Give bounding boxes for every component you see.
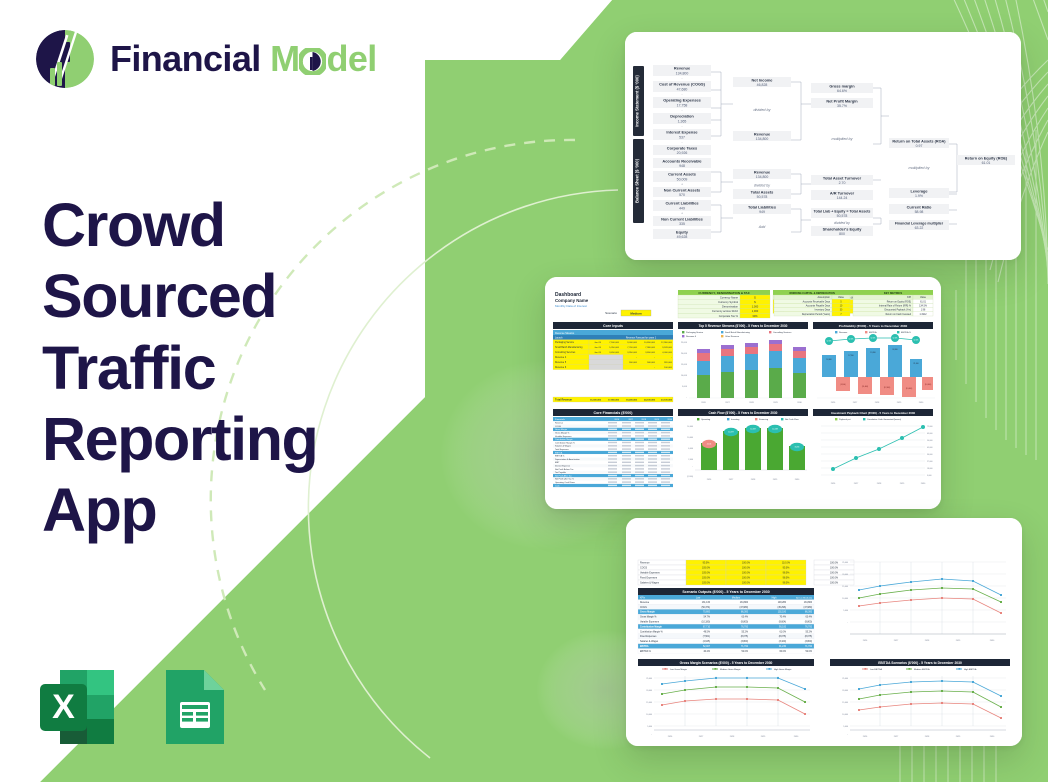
table-cell: Fixed Expenses <box>640 636 657 638</box>
table-cell <box>648 468 657 469</box>
node-value: 570 <box>679 193 685 197</box>
svg-text:+: + <box>681 183 683 187</box>
table-cell: Currency Symbol <box>718 300 738 304</box>
table-cell <box>635 429 644 430</box>
table-cell <box>622 462 631 463</box>
svg-text:10,000: 10,000 <box>842 714 848 716</box>
scenario-dashboard-mock: Revenue 95.0% 100.0% 110.0% 100.0% COGS … <box>626 518 1022 746</box>
table-cell <box>622 448 631 449</box>
table-cell <box>635 485 644 486</box>
panel-header: Cash Flow ($'000) - 5 Years to December … <box>709 411 778 415</box>
svg-text:24,100: 24,100 <box>892 349 897 351</box>
table-cell <box>622 478 631 479</box>
screenshot-dupont-analysis[interactable]: Income Statement ($ '000) Balance Sheet … <box>625 32 1021 260</box>
hero-left-panel: Financial M del Crowd Sourced Traffic Re… <box>0 0 470 782</box>
node-value: 1.9% <box>915 194 923 198</box>
node: A/R Turnover 144.24 <box>811 190 873 200</box>
table-cell <box>648 442 657 443</box>
svg-text:25,000: 25,000 <box>681 342 688 344</box>
node-value: 2.70 <box>839 181 846 185</box>
table-cell: 1,000 <box>752 305 759 309</box>
table-cell <box>635 439 644 440</box>
col-header: Value <box>920 296 927 299</box>
operator-label: divided by <box>834 221 850 225</box>
col-header: Value <box>838 296 845 299</box>
table-cell <box>622 439 631 440</box>
table-cell: Consulting Services <box>555 351 576 354</box>
table-cell <box>635 478 644 479</box>
excel-letter: X <box>52 688 75 726</box>
node-value: 1,365 <box>678 119 687 123</box>
table-cell: (3,800) <box>741 641 749 643</box>
table-cell <box>661 425 670 426</box>
legend-label: Low EBITDA <box>870 668 883 671</box>
node-value: 35.7% <box>837 104 847 108</box>
table-cell <box>648 475 657 476</box>
node-label: Net Profit Margin <box>826 98 858 103</box>
table-cell: 105.0% <box>702 567 711 570</box>
table-cell <box>661 481 670 482</box>
table-cell <box>648 422 657 423</box>
node: Net Profit Margin 35.7% <box>811 98 873 108</box>
node-label: Shareholder's Equity <box>823 226 863 231</box>
table-cell: Tax Payable <box>555 472 567 474</box>
svg-text:5,000: 5,000 <box>682 386 688 388</box>
table-cell <box>661 429 670 430</box>
table-cell <box>635 452 644 453</box>
table-cell: Revenue <box>555 423 564 425</box>
panel-header: Profitability ($'000) - 5 Years to Decem… <box>839 324 908 328</box>
table-cell <box>661 422 670 423</box>
table-row: Fixed Expenses(7,501)(8,075)(8,075)(8,07… <box>638 634 814 639</box>
table-cell: 100.0% <box>742 567 751 570</box>
table-cell <box>608 422 617 423</box>
col-header: Assumption <box>818 296 831 299</box>
table-cell: 100.0% <box>830 562 839 565</box>
bar-group <box>721 345 734 398</box>
brand-name-model-del: del <box>326 38 376 79</box>
table-cell: (3,100) <box>779 641 787 643</box>
table-cell <box>661 448 670 449</box>
table-cell <box>648 429 657 430</box>
svg-text:(12,300): (12,300) <box>884 387 891 389</box>
table-cell <box>635 442 644 443</box>
svg-text:27,000: 27,000 <box>927 461 933 463</box>
node-value: 63.22 <box>915 226 924 230</box>
table-cell <box>661 452 670 453</box>
operator-label: multiplied by <box>831 137 853 141</box>
table-row: Contribution Margin %48.5%55.2%61.0%55.2… <box>638 629 814 634</box>
svg-text:10,000: 10,000 <box>687 437 693 439</box>
table-cell: 105.0% <box>702 582 711 585</box>
table-cell <box>661 432 670 433</box>
table-cell: 40.2% <box>703 651 710 653</box>
table-cell: COGS <box>555 426 562 428</box>
table-total: 24,100,000 <box>644 399 656 402</box>
dashboard-subnote: Monthly Data of Interest <box>555 304 587 308</box>
node-value: 144.24 <box>837 196 848 200</box>
group-label-balance-sheet: Balance Sheet ($ '000) <box>635 158 640 203</box>
table-cell <box>635 435 644 436</box>
table-cell: 110.0% <box>782 562 791 565</box>
legend-label: High Gross Margin <box>774 668 792 671</box>
table-cell: EBIT <box>555 462 560 464</box>
node-label: Equity <box>676 229 689 234</box>
svg-text:-: - <box>681 77 682 81</box>
table-cell: (9,800) <box>805 622 813 624</box>
table-cell: 98.0% <box>783 582 791 585</box>
table-cell: Small Batch Manufacturing <box>555 346 583 349</box>
panel-header: Investment Payback Chart ($'000) - 5 Yea… <box>831 411 916 415</box>
legend-label: Net Cash Flow <box>785 418 799 421</box>
table-cell: 90,100 <box>779 626 787 628</box>
table-row: EBITDA <box>553 451 673 454</box>
table-cell: 7,980,000 <box>645 347 656 349</box>
table-cell: Depreciation & Amortisation <box>555 458 580 461</box>
data-label: 8,233 <box>795 447 800 449</box>
table-cell: Total Expenses <box>555 448 569 451</box>
table-cell <box>608 442 617 443</box>
table-cell: 54.7% <box>703 617 710 619</box>
table-cell: 1,000 <box>752 309 759 313</box>
table-cell: 3,450,000 <box>609 352 620 354</box>
table-cell: Salaries & Wages <box>640 640 659 643</box>
table-row: Tax Payable <box>553 471 673 474</box>
node-label: Total Liabilities <box>748 204 776 209</box>
table-cell: 76,700 <box>805 626 813 628</box>
table-cell: 67,710 <box>703 626 711 628</box>
table-cell <box>635 445 644 446</box>
table-cell: 900,000 <box>629 362 638 364</box>
table-cell: Interest Expense <box>555 465 571 468</box>
table-cell: 55.2% <box>805 631 812 633</box>
legend-label: High EBITDA <box>964 668 977 671</box>
operator-label: multiplied by <box>908 166 930 170</box>
data-label: 12,337 <box>750 429 756 431</box>
table-cell: Accounts Payable Days <box>806 305 831 308</box>
table-cell <box>622 435 631 436</box>
col-header: High <box>772 598 777 600</box>
table-cell: 100.0% <box>830 572 839 575</box>
node-value: 58.98 <box>915 210 924 214</box>
table-total: 17,950,000 <box>608 400 620 402</box>
table-total: 16,300,000 <box>590 400 602 402</box>
panel-header: EBITDA Scenarios ($'000) - 5 Years to De… <box>878 661 962 665</box>
legend-label: Revenue 4 <box>686 336 697 338</box>
table-total: 19,200,000 <box>626 400 638 402</box>
headline-line-5: App <box>42 475 442 546</box>
table-cell <box>661 442 670 443</box>
legend-label: Financing <box>759 419 769 421</box>
table-cell <box>622 425 631 426</box>
table-cell <box>622 422 631 423</box>
col-header: KPIs <box>640 598 646 600</box>
svg-text:10,000: 10,000 <box>681 375 688 377</box>
node: Net Income 46,828 <box>733 77 791 87</box>
node: Total Liabilities 949 <box>733 204 791 214</box>
table-cell: Denomination <box>722 305 739 309</box>
table-cell: EBITDA % <box>555 455 565 458</box>
table-cell: 91,230 <box>779 646 787 648</box>
svg-text:5,000: 5,000 <box>843 726 848 728</box>
node-label: Interest Expense <box>666 129 698 134</box>
svg-text:-: - <box>681 141 682 145</box>
table-row: Operating Cash Flows <box>553 481 673 484</box>
table-cell: 52.0% <box>741 651 748 653</box>
table-cell: 131,130 <box>702 602 711 604</box>
table-cell: 105.0% <box>702 577 711 580</box>
table-cell: Revenue 6 <box>555 367 567 369</box>
table-cell <box>661 485 670 486</box>
table-cell: Packaging Service <box>555 341 575 344</box>
table-row: Gross Margin70,80086,300102,10086,300 <box>638 609 814 614</box>
table-cell: Revenue <box>640 562 650 565</box>
node-label: Revenue <box>754 169 771 174</box>
table-cell <box>635 425 644 426</box>
table-cell <box>648 439 657 440</box>
svg-text:52.0%: 52.0% <box>893 338 898 340</box>
table-cell: 100.0% <box>830 582 839 585</box>
brand-name-model-m: M <box>270 38 299 79</box>
node-value: 134,800 <box>676 71 689 75</box>
table-cell: 95.0% <box>703 562 711 565</box>
node-label: Revenue <box>754 131 771 136</box>
table-cell: Internal Rate of Return (IRR) % <box>879 305 911 308</box>
svg-text:45,000: 45,000 <box>927 447 933 449</box>
table-cell <box>648 455 657 456</box>
col-header: Revenue Streams <box>555 332 575 335</box>
col-header: Low <box>696 598 701 600</box>
table-cell <box>635 481 644 482</box>
table-cell: 1.1912 <box>919 314 927 316</box>
table-cell <box>608 448 617 449</box>
table-header: KEY METRICS <box>884 291 903 295</box>
table-cell: Fixed Expenses <box>640 577 658 580</box>
table-cell: 3,800,000 <box>645 352 656 354</box>
table-cell: 63.4% <box>805 617 812 619</box>
table-cell <box>661 475 670 476</box>
bar-group <box>769 340 782 398</box>
node: Gross margin 64.6% <box>811 83 873 93</box>
table-cell: 86,300 <box>741 612 749 614</box>
svg-text:25,000: 25,000 <box>842 678 848 680</box>
table-row: Contribution Margin % <box>553 441 673 444</box>
node-label: Current Ratio <box>907 204 932 209</box>
svg-text:15,000: 15,000 <box>681 364 688 366</box>
node-value: 949 <box>759 210 765 214</box>
google-sheets-icon[interactable] <box>146 662 236 752</box>
dashboard-mock: Dashboard Company Name Monthly Data of I… <box>545 277 941 509</box>
node: Corporate Taxes 20,926 <box>653 145 711 155</box>
table-row: EBITDA % <box>553 454 673 457</box>
data-label: 12,238 <box>772 429 778 431</box>
table-cell: 86,300 <box>805 612 813 614</box>
table-cell <box>635 472 644 473</box>
svg-text:25,000: 25,000 <box>842 562 848 564</box>
table-cell: (50,374) <box>701 607 710 609</box>
table-cell: 10,800,000 <box>644 342 656 344</box>
svg-text:15,000: 15,000 <box>646 702 652 704</box>
svg-text:-: - <box>681 93 682 97</box>
screenshot-scenario-dashboard[interactable]: Revenue 95.0% 100.0% 110.0% 100.0% COGS … <box>626 518 1022 746</box>
node: Shareholder's Equity 800 <box>811 226 873 236</box>
table-row: Interest Expense <box>553 464 673 467</box>
table-cell: 100.0% <box>830 567 839 570</box>
svg-text:20,000: 20,000 <box>842 690 848 692</box>
legend-label: EBITDA <box>869 331 877 334</box>
node-label: Leverage <box>910 188 928 193</box>
legend-label: Small Batch Manufacturing <box>725 331 751 334</box>
dupont-diagram: Income Statement ($ '000) Balance Sheet … <box>625 32 1021 260</box>
data-label: 10,297 <box>728 432 734 434</box>
svg-text:52.0%: 52.0% <box>827 341 832 343</box>
table-cell: 9,000,000 <box>627 342 638 344</box>
col-header: KPI <box>907 296 911 299</box>
table-row: Depreciation & Amortisation <box>553 458 673 461</box>
table-cell <box>622 432 631 433</box>
brand-logo[interactable]: Financial M del <box>34 28 377 90</box>
table-cell <box>635 458 644 459</box>
table-cell <box>622 465 631 466</box>
assumption-table-wc-dep: WORKING CAPITAL & DEPRECIATION Assumptio… <box>774 290 850 316</box>
table-cell: 940,000 <box>647 362 656 364</box>
table-cell: Jan-26 <box>594 352 601 354</box>
table-cell: 61.0% <box>779 631 786 633</box>
table-cell <box>608 439 617 440</box>
table-cell: (47,680) <box>739 607 748 609</box>
svg-text:17,950: 17,950 <box>848 355 853 357</box>
operator-label: divided by <box>753 108 771 112</box>
table-cell <box>648 478 657 479</box>
legend-label: Investing <box>731 418 740 421</box>
svg-text:16,300: 16,300 <box>826 359 831 361</box>
table-cell: Contribution Margin % <box>640 630 663 633</box>
table-cell: 3,950,000 <box>627 352 638 354</box>
operator-label: divided by <box>754 184 770 188</box>
microsoft-excel-icon[interactable]: X <box>32 662 122 752</box>
panel-header: Core Inputs <box>603 324 623 328</box>
core-financials-table: Financials 2026 2027 2028 2029 2030 Reve… <box>553 417 673 487</box>
table-cell <box>648 472 657 473</box>
table-cell: Net Profit Before Tax <box>555 468 573 471</box>
table-cell: 60.0% <box>779 651 786 653</box>
table-cell <box>635 422 644 423</box>
table-row: EBITDA %40.2%52.0%60.0%52.0% <box>638 649 814 654</box>
node: Revenue 134,800 <box>733 131 791 141</box>
circular-bar-chart-logo-icon <box>34 28 96 90</box>
node-value: 0.97 <box>916 144 923 148</box>
assumption-table-key-metrics: KEY METRICS KPI Value Return on Equity (… <box>853 290 933 316</box>
file-format-icons: X <box>32 662 236 752</box>
table-cell <box>622 442 631 443</box>
table-cell: (9,800) <box>741 622 749 624</box>
table-cell <box>648 462 657 463</box>
scenario-value: Medium <box>630 311 642 315</box>
table-cell: EBITDA <box>640 645 649 648</box>
table-total: 23,100,000 <box>661 400 673 402</box>
table-cell: Variable Expenses <box>640 621 660 624</box>
node: Return on Equity (ROE) 61.01 <box>957 155 1015 165</box>
node-label: Non Current Liabilities <box>661 216 703 221</box>
data-label: 4,104 <box>707 444 712 446</box>
table-cell: Inventory Days <box>815 309 831 312</box>
table-cell: 76,700 <box>741 626 749 628</box>
screenshot-main-dashboard[interactable]: Dashboard Company Name Monthly Data of I… <box>545 277 941 509</box>
table-cell <box>661 435 670 436</box>
table-cell: 7,500,000 <box>609 342 620 344</box>
table-cell: 102,100 <box>778 612 787 614</box>
table-cell <box>608 462 617 463</box>
operator-label: Add <box>758 225 766 229</box>
table-row: Total Expenses <box>553 448 673 451</box>
table-header: WORKING CAPITAL & DEPRECIATION <box>789 292 835 295</box>
table-cell <box>635 475 644 476</box>
table-cell <box>622 472 631 473</box>
table-cell <box>635 465 644 466</box>
table-cell <box>608 478 617 479</box>
table-cell <box>608 468 617 469</box>
group-label-income-statement: Income Statement ($ '000) <box>635 75 640 127</box>
table-row: Contribution Margin67,71076,70090,10076,… <box>638 624 814 629</box>
table-cell <box>648 448 657 449</box>
table-cell <box>661 468 670 469</box>
table-cell: 134.5% <box>919 306 927 308</box>
node: Non Current Liabilities 335 <box>653 216 711 226</box>
headline-line-1: Crowd <box>42 190 442 261</box>
table-cell: (9,604) <box>779 622 787 624</box>
table-cell: Salaries & Wages <box>640 582 660 585</box>
bar-group <box>745 343 758 398</box>
table-cell: Return on Equity (ROE) <box>887 300 911 303</box>
node-value: 61.01 <box>982 161 991 165</box>
svg-text:20,000: 20,000 <box>646 690 652 692</box>
table-cell <box>608 429 617 430</box>
table-cell: (8,075) <box>779 636 787 638</box>
table-cell <box>661 465 670 466</box>
table-cell <box>661 472 670 473</box>
node-label: Depreciation <box>670 113 694 118</box>
table-cell: Cash <box>555 485 560 487</box>
table-cell <box>608 485 617 486</box>
svg-text:10,000: 10,000 <box>842 598 848 600</box>
table-cell: Net Profit After Tax <box>555 474 572 477</box>
table-cell: Gross Margin % <box>555 433 570 435</box>
col-header: Medium <box>732 598 740 600</box>
table-cell <box>608 458 617 459</box>
table-cell <box>635 468 644 469</box>
svg-text:9,000: 9,000 <box>927 475 932 477</box>
headline-line-3: Traffic <box>42 333 442 404</box>
table-cell: 61.01 <box>920 301 926 303</box>
svg-text:63,000: 63,000 <box>927 433 933 435</box>
table-cell: 70.4% <box>779 617 786 619</box>
table-cell: (8,075) <box>805 636 813 638</box>
table-cell <box>622 475 631 476</box>
table-cell <box>648 465 657 466</box>
table-cell: 63.4% <box>741 617 748 619</box>
node-label: Total Liab + Equity = Total Assets <box>814 209 871 213</box>
table-cell: Depreciation Period (Years) <box>802 313 830 316</box>
svg-text:21,100: 21,100 <box>913 363 918 365</box>
table-cell: Jan-26 <box>594 342 601 344</box>
node: Return on Total Assets (ROA) 0.97 <box>889 138 949 148</box>
node-value: 49,628 <box>677 235 688 239</box>
table-cell: Variable Expenses <box>640 572 661 575</box>
table-row: Variable Expenses <box>553 434 673 437</box>
col-header: Revenue Forecast for years 1 <box>626 337 657 340</box>
svg-text:10,000: 10,000 <box>646 714 652 716</box>
table-cell: 7,760,000 <box>627 347 638 349</box>
